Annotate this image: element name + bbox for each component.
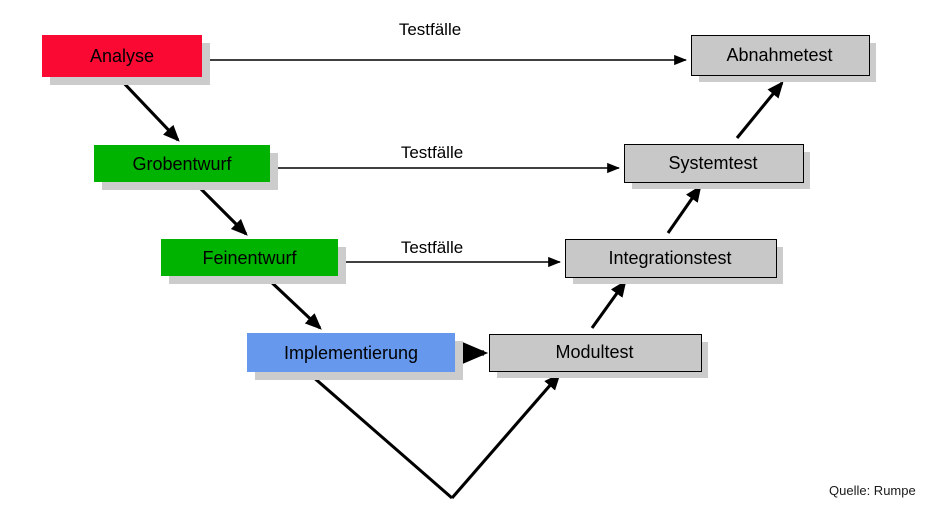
node-label: Abnahmetest [726,46,832,64]
edge-vertex-up-to-modultest [452,375,559,498]
edge-label-testfaelle-grobentwurf: Testfälle [401,143,463,163]
edge-integrationstest-to-systemtest [668,187,700,233]
node-analyse[interactable]: Analyse [42,35,202,77]
edge-implementierung-down-to-vertex [312,376,452,498]
node-modultest[interactable]: Modultest [489,334,700,370]
node-implementierung[interactable]: Implementierung [247,333,455,372]
node-label: Integrationstest [608,249,731,267]
node-label: Implementierung [284,344,418,362]
edge-label-testfaelle-feinentwurf: Testfälle [401,238,463,258]
edge-analyse-to-grobentwurf [120,79,178,140]
node-systemtest[interactable]: Systemtest [624,144,802,181]
node-grobentwurf[interactable]: Grobentwurf [94,145,270,182]
edge-feinentwurf-to-implementierung [268,279,320,328]
node-label: Grobentwurf [132,155,231,173]
source-credit: Quelle: Rumpe [829,483,916,498]
v-model-diagram: Analyse Grobentwurf Feinentwurf Implemen… [0,0,951,517]
node-label: Feinentwurf [202,249,296,267]
node-feinentwurf[interactable]: Feinentwurf [161,239,338,276]
node-label: Modultest [555,343,633,361]
edge-modultest-to-integrationstest [592,282,625,328]
node-integrationstest[interactable]: Integrationstest [565,239,775,276]
node-label: Systemtest [668,154,757,172]
edge-grobentwurf-to-feinentwurf [196,184,246,234]
edge-label-testfaelle-analyse: Testfälle [399,20,461,40]
node-label: Analyse [90,47,154,65]
node-abnahmetest[interactable]: Abnahmetest [691,35,868,74]
edge-systemtest-to-abnahmetest [737,83,782,138]
